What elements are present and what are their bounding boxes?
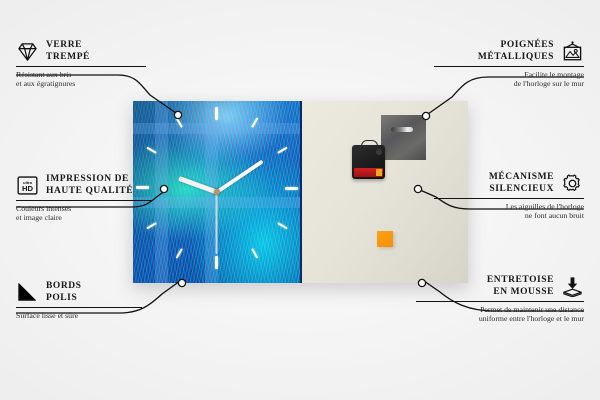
feature-callout-bords-polis: BORDS POLIS Surface lisse et sûre [16, 281, 188, 320]
feature-subtitle: Facilite le montage de l'horloge sur le … [412, 70, 584, 89]
feature-callout-mecanisme: MÉCANISME SILENCIEUX Les aiguilles de l'… [412, 172, 584, 221]
clock-second-hand [216, 192, 218, 254]
divider [16, 66, 146, 67]
feature-title: POIGNÉES MÉTALLIQUES [478, 40, 554, 63]
picture-frame-hanging-icon [561, 41, 584, 62]
feature-title: VERRE TREMPÉ [46, 40, 90, 63]
svg-text:HD: HD [22, 184, 34, 193]
clock-tick [217, 187, 298, 189]
infographic-canvas: VERRE TREMPÉ Résistant aux bris et aux é… [0, 0, 600, 400]
divider [434, 66, 584, 67]
feature-subtitle: Les aiguilles de l'horloge ne font aucun… [412, 202, 584, 221]
metal-hanger-plate [381, 115, 426, 160]
divider [434, 198, 584, 199]
feature-title: ENTRETOISE EN MOUSSE [487, 275, 554, 298]
feature-callout-entretoise: ENTRETOISE EN MOUSSE Permet de maintenir… [412, 275, 584, 324]
clock-center-cap [214, 189, 220, 195]
diamond-icon [16, 41, 39, 62]
feature-callout-poignees: POIGNÉES MÉTALLIQUES Facilite le montage… [412, 40, 584, 89]
mechanism-knob [376, 149, 382, 155]
feature-subtitle: Couleurs intenses et image claire [16, 204, 188, 223]
feature-title: BORDS POLIS [46, 281, 81, 304]
ultra-hd-icon: ultra HD [16, 175, 39, 196]
spacer-pad-icon [561, 276, 584, 297]
foam-spacer [377, 231, 393, 247]
feature-subtitle: Surface lisse et sûre [16, 311, 188, 321]
hanger-loop [361, 140, 378, 149]
hanger-slot [391, 127, 413, 132]
feature-title: IMPRESSION DE HAUTE QUALITÉ [46, 174, 133, 197]
clock-tick [216, 107, 218, 188]
divider [416, 301, 584, 302]
feature-callout-verre-trempe: VERRE TREMPÉ Résistant aux bris et aux é… [16, 40, 188, 89]
feature-subtitle: Résistant aux bris et aux égratignures [16, 70, 188, 89]
divider [16, 200, 152, 201]
feature-subtitle: Permet de maintenir une distance uniform… [412, 305, 584, 324]
feature-title: MÉCANISME SILENCIEUX [489, 172, 554, 195]
battery [354, 168, 383, 177]
polished-edge-icon [16, 282, 39, 303]
gear-icon [561, 173, 584, 194]
quartz-mechanism [352, 145, 385, 179]
divider [16, 307, 142, 308]
feature-callout-impression: ultra HD IMPRESSION DE HAUTE QUALITÉ Cou… [16, 174, 188, 223]
